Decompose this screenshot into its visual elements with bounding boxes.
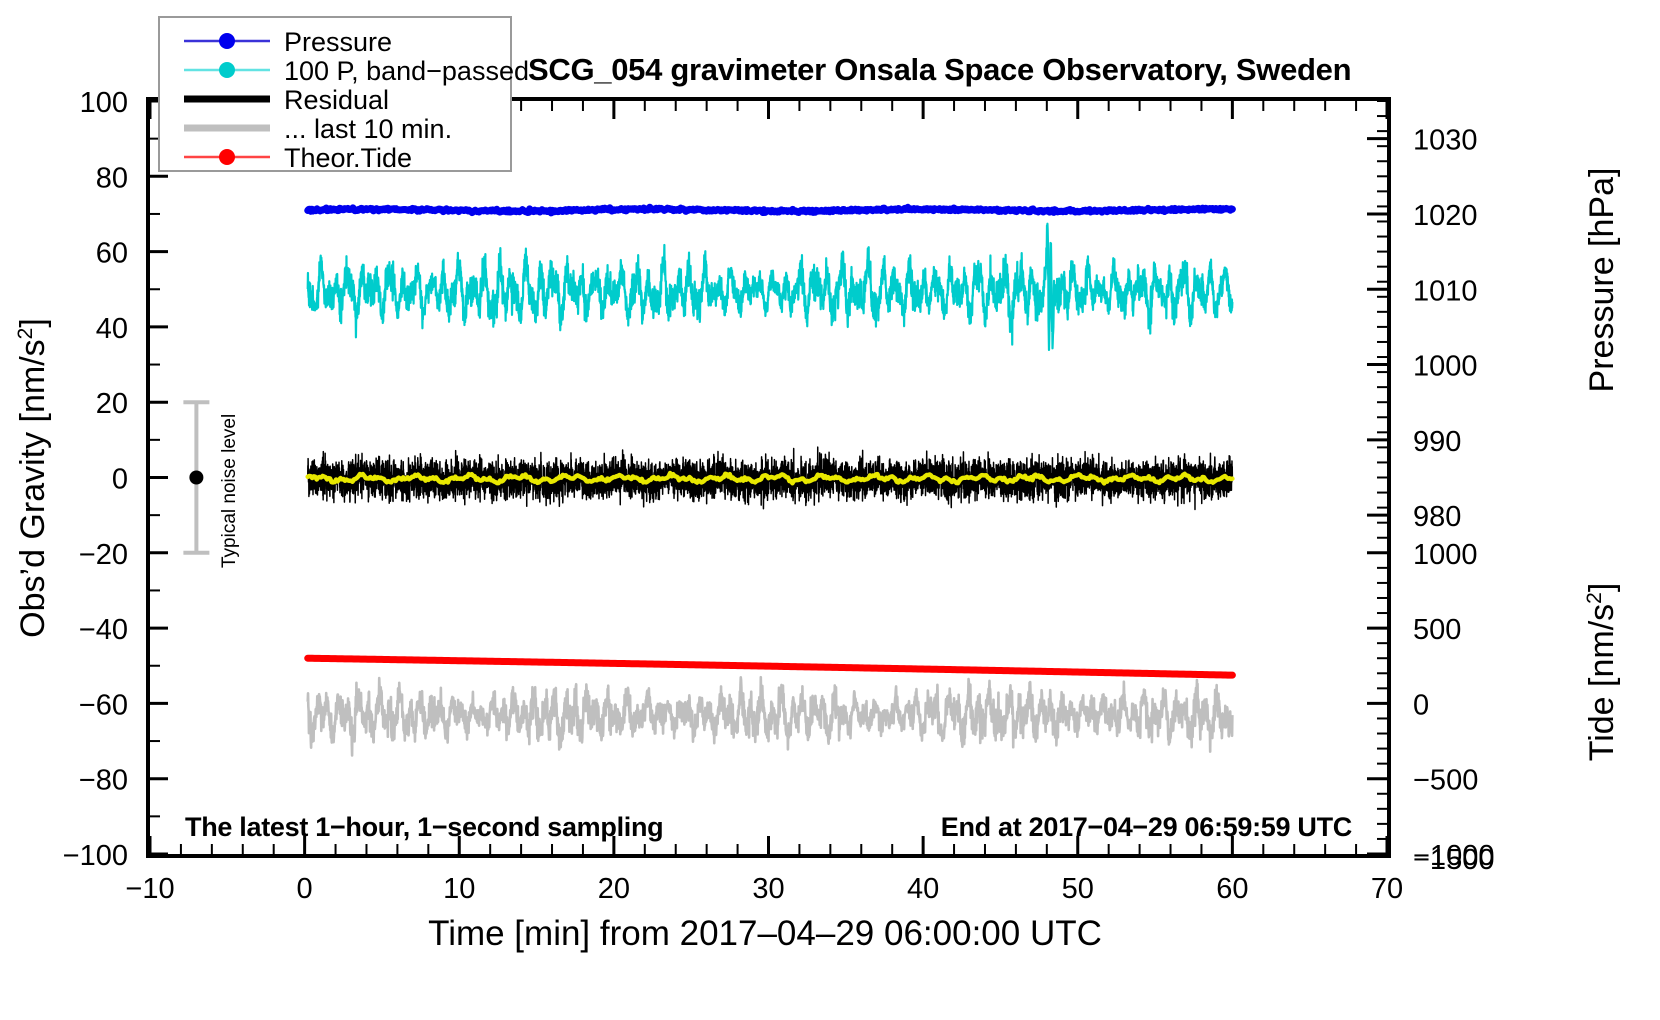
svg-text:Tide [nm/s2]: Tide [nm/s2] bbox=[1583, 583, 1621, 762]
y-tick-label: −100 bbox=[63, 840, 128, 872]
y-axis-left-title: Obs’d Gravity [nm/s2] bbox=[14, 318, 52, 638]
legend-swatch-marker bbox=[219, 62, 235, 78]
y-tick-label: 100 bbox=[80, 87, 128, 119]
x-tick-label: 60 bbox=[1216, 873, 1248, 905]
y-tick-label: 0 bbox=[112, 464, 128, 496]
pressure-axis-title: Pressure [hPa] bbox=[1583, 168, 1621, 393]
y-tick-label: −80 bbox=[79, 765, 128, 797]
legend-item-label: Pressure bbox=[284, 27, 392, 57]
y-tick-label: −20 bbox=[79, 539, 128, 571]
pressure-tick-label: 1010 bbox=[1413, 275, 1478, 307]
pressure-tick-label: 980 bbox=[1413, 501, 1461, 533]
y-tick-label: 80 bbox=[96, 162, 128, 194]
annotation-bottom-right: End at 2017−04−29 06:59:59 UTC bbox=[941, 812, 1352, 842]
x-tick-label: −10 bbox=[125, 873, 174, 905]
x-axis-title: Time [min] from 2017–04–29 06:00:00 UTC bbox=[428, 914, 1102, 953]
y-tick-label: 40 bbox=[96, 313, 128, 345]
pressure-tick-label: 1030 bbox=[1413, 125, 1478, 157]
legend-swatch-marker bbox=[219, 33, 235, 49]
page-title: SCG_054 gravimeter Onsala Space Observat… bbox=[528, 52, 1351, 87]
tide-title-main: Tide [nm/s bbox=[1583, 604, 1621, 761]
x-tick-label: 50 bbox=[1062, 873, 1094, 905]
y-tick-label: 20 bbox=[96, 388, 128, 420]
legend-item-label: Theor.Tide bbox=[284, 143, 412, 173]
y-tick-label: −60 bbox=[79, 689, 128, 721]
pressure-axis-title-text: Pressure [hPa] bbox=[1583, 168, 1621, 393]
pressure-tick-label: 1000 bbox=[1413, 351, 1478, 383]
tide-axis-title: Tide [nm/s2] bbox=[1583, 583, 1621, 762]
legend: Pressure100 P, band−passedResidual... la… bbox=[159, 17, 529, 173]
y-left-title-end: ] bbox=[14, 318, 52, 327]
x-tick-label: 70 bbox=[1371, 873, 1403, 905]
legend-item-label: ... last 10 min. bbox=[284, 114, 452, 144]
svg-text:Obs’d Gravity [nm/s2]: Obs’d Gravity [nm/s2] bbox=[14, 318, 52, 638]
pressure-tick-label: 1020 bbox=[1413, 200, 1478, 232]
svg-text:Typical noise level: Typical noise level bbox=[219, 414, 240, 568]
y-left-title-main: Obs’d Gravity [nm/s bbox=[14, 339, 52, 638]
pressure-tick-label: 990 bbox=[1413, 426, 1461, 458]
tide-title-end: ] bbox=[1583, 583, 1621, 592]
legend-item-label: 100 P, band−passed bbox=[284, 56, 529, 86]
annotation-bottom-left: The latest 1−hour, 1−second sampling bbox=[185, 812, 663, 842]
gravimeter-plot: −10010203040506070 100806040200−20−40−60… bbox=[0, 0, 1660, 1020]
tide-tick-label: −500 bbox=[1413, 765, 1478, 797]
x-tick-label: 30 bbox=[752, 873, 784, 905]
noise-level-label: Typical noise level bbox=[219, 414, 240, 568]
tide-tick-label: 0 bbox=[1413, 689, 1429, 721]
x-tick-label: 40 bbox=[907, 873, 939, 905]
y-tick-label: −40 bbox=[79, 614, 128, 646]
tide-title-sup: 2 bbox=[1583, 592, 1606, 604]
x-tick-label: 20 bbox=[598, 873, 630, 905]
y-left-title-sup: 2 bbox=[14, 328, 37, 340]
y-tick-label: 60 bbox=[96, 238, 128, 270]
noise-bar-center-dot bbox=[189, 471, 203, 485]
figure-root: −10010203040506070 100806040200−20−40−60… bbox=[0, 0, 1660, 1020]
trace-pressure bbox=[308, 207, 1233, 213]
x-tick-label: 10 bbox=[443, 873, 475, 905]
tide-tick-label: −1500 bbox=[1413, 844, 1494, 876]
legend-item-label: Residual bbox=[284, 85, 389, 115]
x-tick-label: 0 bbox=[297, 873, 313, 905]
tide-tick-label: 500 bbox=[1413, 614, 1461, 646]
legend-swatch-marker bbox=[219, 149, 235, 165]
tide-tick-label: 1000 bbox=[1413, 539, 1478, 571]
